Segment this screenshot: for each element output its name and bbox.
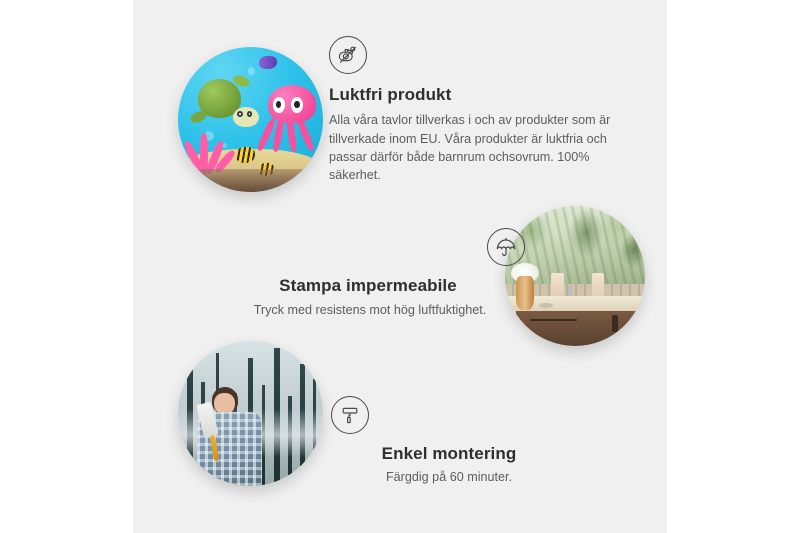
turtle-head [233,107,259,128]
feature-title: Enkel montering [329,444,569,464]
woman-paint-roller-forest-circle [178,341,323,486]
turtle-illustration [193,79,257,128]
fish-illustration [259,56,276,69]
no-fragrance-spray-icon [329,36,367,74]
feature-description: Färgdig på 60 minuter. [329,468,569,486]
feature-odourless-product: Luktfri produkt Alla våra tavlor tillver… [329,36,629,184]
vanity-cabinet [516,311,645,346]
feature-description: Alla våra tavlor tillverkas i och av pro… [329,111,621,184]
bubble-icon [248,67,255,74]
umbrella-icon [487,228,525,266]
promo-canvas: Luktfri produkt Alla våra tavlor tillver… [133,0,667,533]
octopus-illustration [259,85,320,152]
octopus-eye [291,97,303,113]
feature-title: Stampa impermeabile [205,276,535,296]
feature-waterproof-print: Stampa impermeabile Tryck med resistens … [205,228,535,320]
woman-figure [195,387,270,486]
room-foreground-strip [178,169,323,192]
octopus-eye [273,97,285,113]
feature-easy-mounting: Enkel montering Färgdig på 60 minuter. [329,396,569,487]
promo-feature-page: Luktfri produkt Alla våra tavlor tillver… [0,0,800,533]
paint-roller-icon [331,396,369,434]
turtle-flipper [189,109,208,125]
underwater-kids-mural-circle [178,47,323,192]
fish-illustration [236,147,255,163]
feature-description: Tryck med resistens mot hög luftfuktighe… [205,301,535,319]
soap-dish [539,303,553,309]
feature-title: Luktfri produkt [329,85,629,105]
